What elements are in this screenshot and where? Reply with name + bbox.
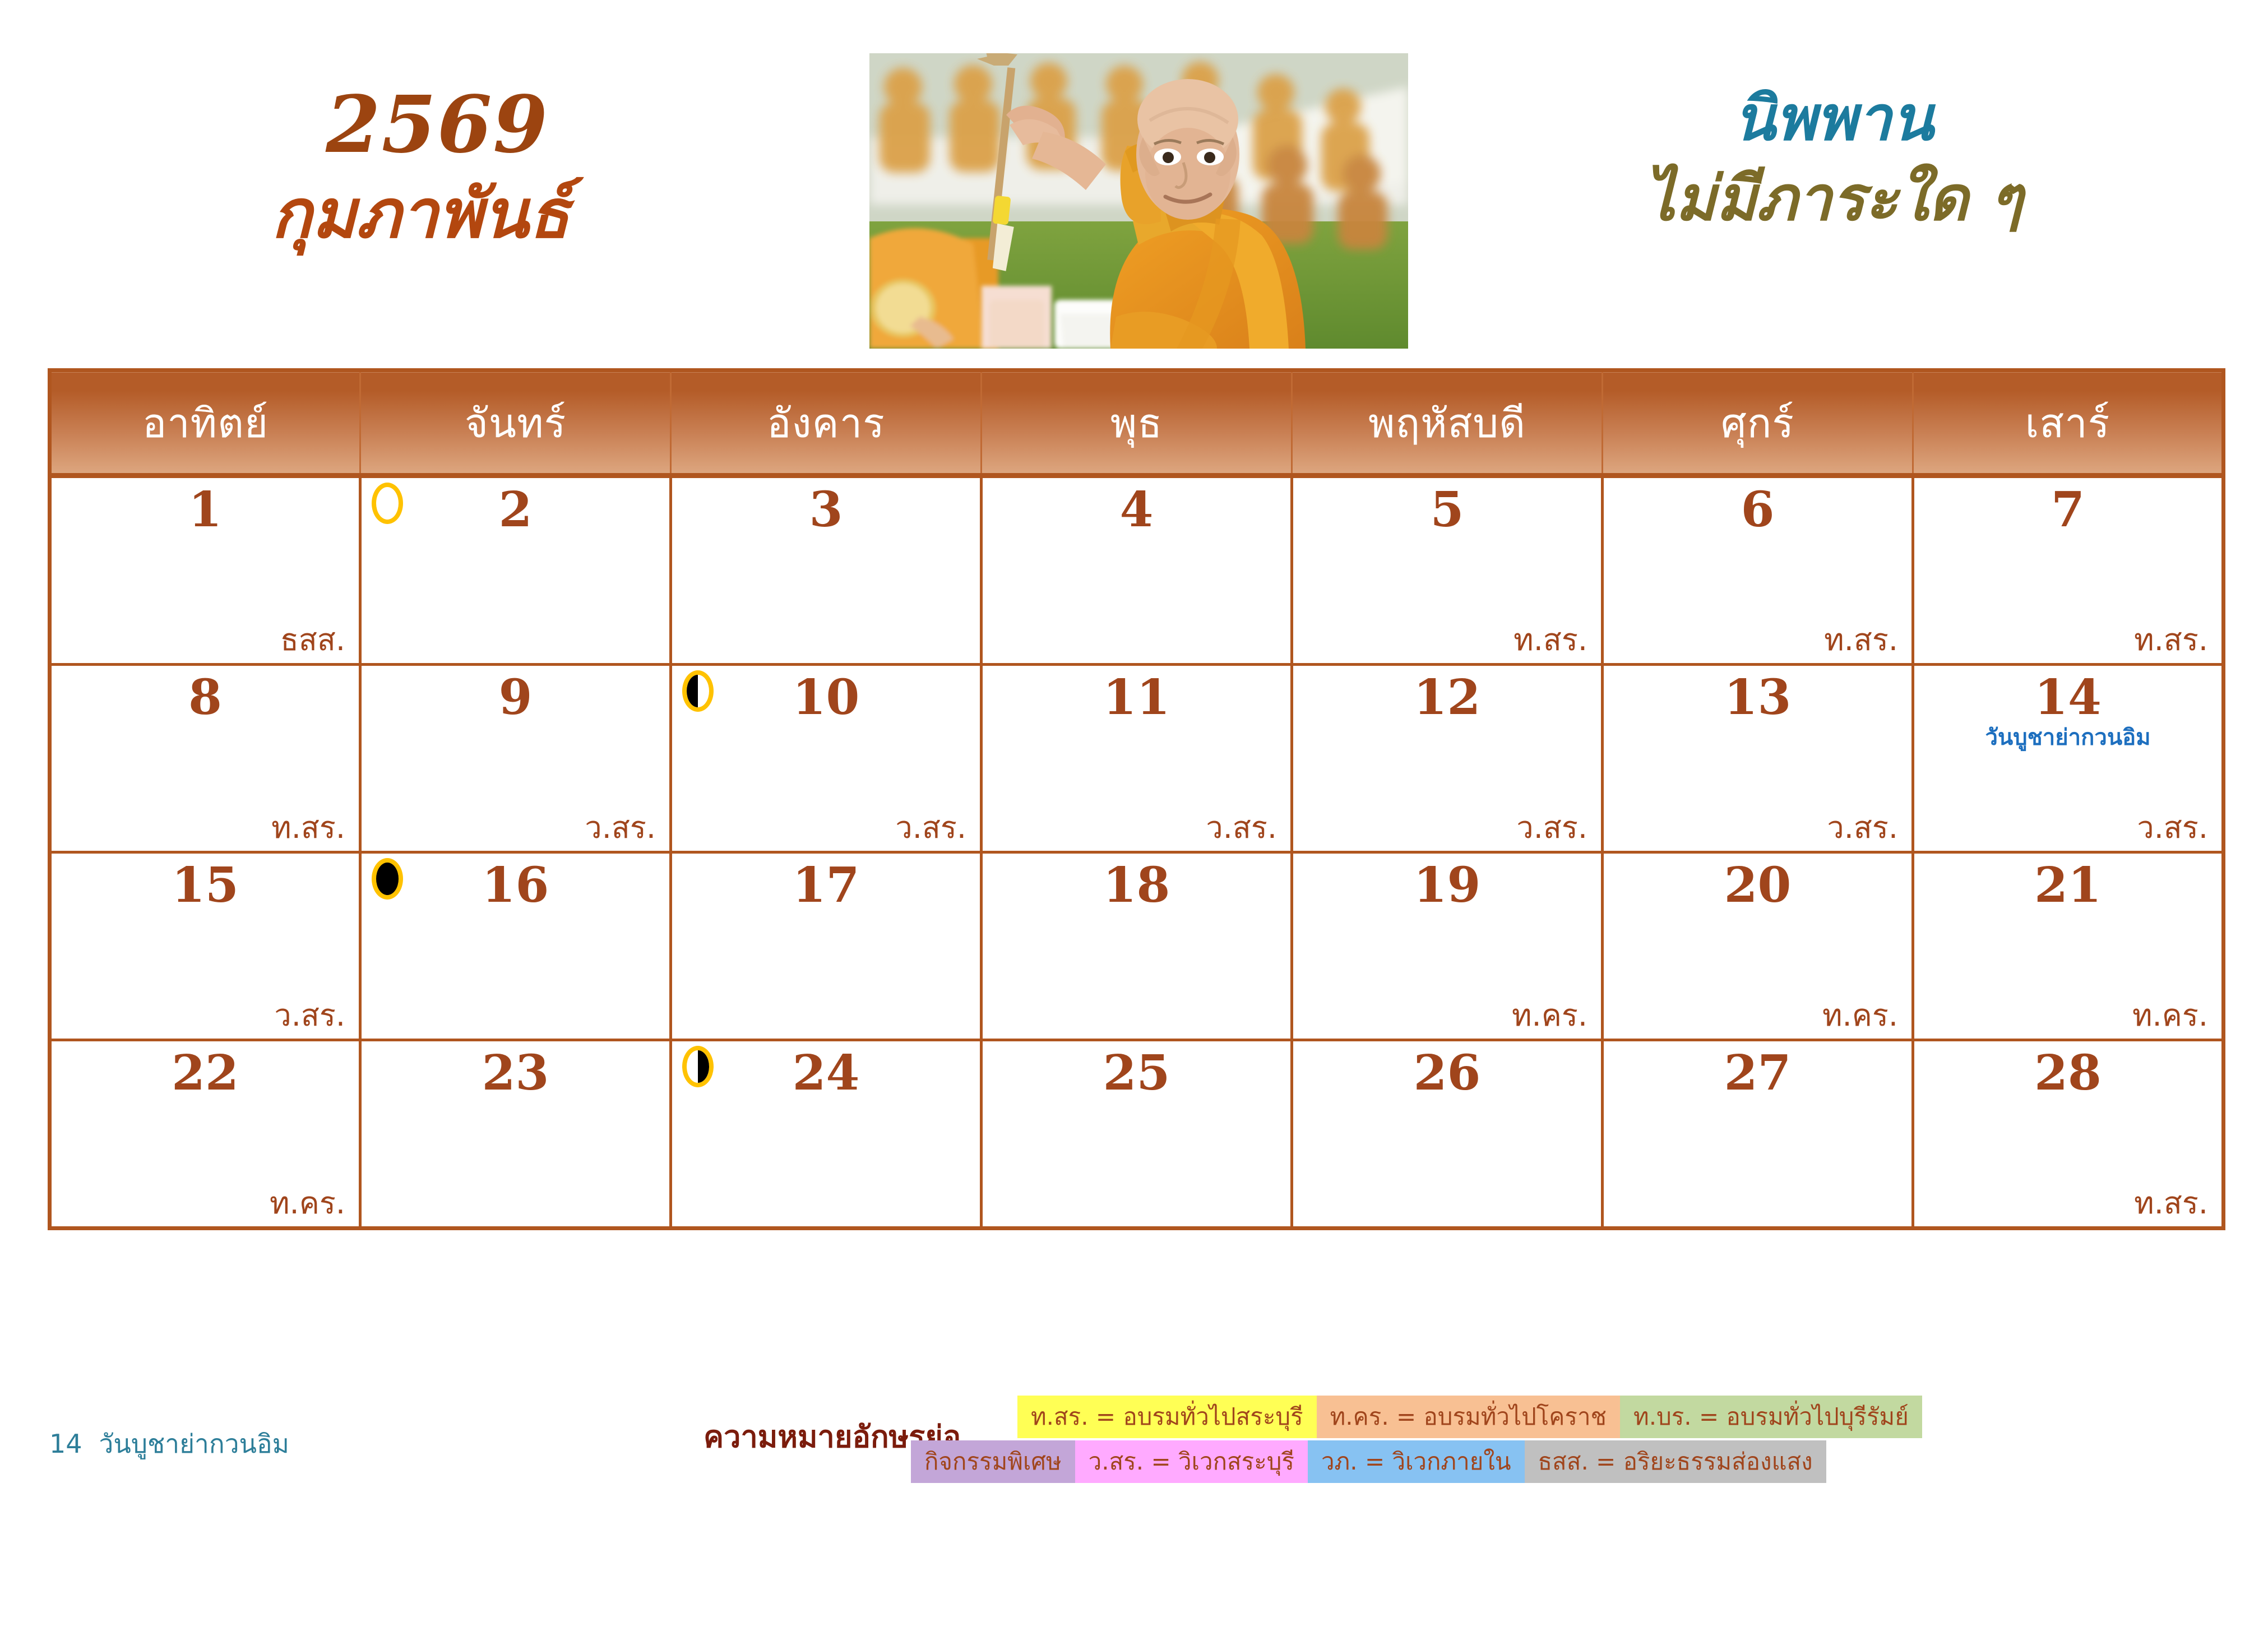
- calendar-day-cell[interactable]: 19ท.คร.: [1292, 852, 1603, 1040]
- day-abbreviation-tag: ว.สร.: [2137, 813, 2208, 843]
- day-abbreviation-tag: ท.คร.: [2132, 1000, 2208, 1031]
- calendar-day-cell[interactable]: 27: [1603, 1040, 1913, 1229]
- day-number: 10: [672, 674, 980, 722]
- calendar-day-cell[interactable]: 7ท.สร.: [1913, 476, 2224, 665]
- calendar-day-cell[interactable]: 14วันบูชาย่ากวนอิมว.สร.: [1913, 665, 2224, 852]
- calendar-day-cell[interactable]: 26: [1292, 1040, 1603, 1229]
- weekday-header-thursday: พฤหัสบดี: [1292, 370, 1603, 476]
- day-number: 21: [1914, 861, 2221, 910]
- day-number: 3: [672, 486, 980, 534]
- legend-chip: ว.สร. = วิเวกสระบุรี: [1075, 1440, 1308, 1483]
- calendar-day-cell[interactable]: 22ท.คร.: [50, 1040, 360, 1229]
- year-title: 2569: [129, 84, 746, 166]
- calendar-day-cell[interactable]: 1ธสส.: [50, 476, 360, 665]
- day-number: 19: [1293, 861, 1601, 910]
- calendar-table: อาทิตย์ จันทร์ อังคาร พุธ พฤหัสบดี ศุกร์…: [48, 368, 2225, 1230]
- day-abbreviation-tag: ท.สร.: [1513, 625, 1587, 655]
- day-number: 27: [1604, 1049, 1911, 1097]
- monk-photo: [869, 53, 1408, 349]
- weekday-header-tuesday: อังคาร: [671, 370, 982, 476]
- legend-chip: ท.สร. = อบรมทั่วไปสระบุรี: [1017, 1396, 1317, 1438]
- day-abbreviation-tag: ว.สร.: [895, 813, 966, 843]
- day-abbreviation-tag: ท.คร.: [1822, 1000, 1898, 1031]
- calendar-week-row: 15ว.สร.16171819ท.คร.20ท.คร.21ท.คร.: [50, 852, 2224, 1040]
- day-number: 23: [362, 1049, 669, 1097]
- calendar-day-cell[interactable]: 5ท.สร.: [1292, 476, 1603, 665]
- calendar-day-cell[interactable]: 8ท.สร.: [50, 665, 360, 852]
- day-number: 12: [1293, 674, 1601, 722]
- day-number: 7: [1914, 486, 2221, 534]
- calendar-day-cell[interactable]: 10ว.สร.: [671, 665, 982, 852]
- legend-chip: ธสส. = อริยะธรรมส่องแสง: [1525, 1440, 1826, 1483]
- day-abbreviation-tag: ท.สร.: [1824, 625, 1898, 655]
- day-number: 4: [983, 486, 1290, 534]
- calendar-day-cell[interactable]: 6ท.สร.: [1603, 476, 1913, 665]
- calendar-day-cell[interactable]: 23: [360, 1040, 671, 1229]
- day-number: 1: [52, 486, 359, 534]
- legend-chip: ท.บร. = อบรมทั่วไปบุรีรัมย์: [1620, 1396, 1922, 1438]
- footer-note-text: วันบูชาย่ากวนอิม: [99, 1429, 289, 1459]
- weekday-header-wednesday: พุธ: [982, 370, 1292, 476]
- calendar-header-row: อาทิตย์ จันทร์ อังคาร พุธ พฤหัสบดี ศุกร์…: [50, 370, 2224, 476]
- day-number: 2: [362, 486, 669, 534]
- day-number: 15: [52, 861, 359, 910]
- day-number: 11: [983, 674, 1290, 722]
- day-number: 6: [1604, 486, 1911, 534]
- day-abbreviation-tag: ว.สร.: [1206, 813, 1277, 843]
- legend-chip: ท.คร. = อบรมทั่วไปโคราช: [1317, 1396, 1620, 1438]
- day-abbreviation-tag: ท.สร.: [2134, 1188, 2208, 1218]
- day-event-note: วันบูชาย่ากวนอิม: [1914, 726, 2221, 749]
- legend-rows: ท.สร. = อบรมทั่วไปสระบุรีท.คร. = อบรมทั่…: [1017, 1396, 1922, 1483]
- calendar-day-cell[interactable]: 11ว.สร.: [982, 665, 1292, 852]
- day-abbreviation-tag: ท.คร.: [1512, 1000, 1587, 1031]
- calendar-grid: อาทิตย์ จันทร์ อังคาร พุธ พฤหัสบดี ศุกร์…: [48, 368, 2223, 1230]
- day-abbreviation-tag: ธสส.: [280, 625, 345, 655]
- day-abbreviation-tag: ว.สร.: [1827, 813, 1898, 843]
- day-number: 9: [362, 674, 669, 722]
- motto-line-2: ไม่มีภาระใด ๆ: [1483, 164, 2184, 232]
- calendar-day-cell[interactable]: 2: [360, 476, 671, 665]
- weekday-header-sunday: อาทิตย์: [50, 370, 360, 476]
- weekday-header-friday: ศุกร์: [1603, 370, 1913, 476]
- day-abbreviation-tag: ว.สร.: [585, 813, 656, 843]
- calendar-body: 1ธสส.2345ท.สร.6ท.สร.7ท.สร.8ท.สร.9ว.สร.10…: [50, 476, 2224, 1229]
- day-abbreviation-tag: ท.คร.: [270, 1188, 345, 1218]
- calendar-day-cell[interactable]: 12ว.สร.: [1292, 665, 1603, 852]
- legend-row: กิจกรรมพิเศษว.สร. = วิเวกสระบุรีวภ. = วิ…: [911, 1440, 1922, 1483]
- day-number: 24: [672, 1049, 980, 1097]
- day-number: 20: [1604, 861, 1911, 910]
- page-header: 2569 กุมภาพันธ์: [0, 0, 2268, 367]
- day-abbreviation-tag: ท.สร.: [2134, 625, 2208, 655]
- day-number: 16: [362, 861, 669, 910]
- calendar-day-cell[interactable]: 16: [360, 852, 671, 1040]
- calendar-day-cell[interactable]: 9ว.สร.: [360, 665, 671, 852]
- day-abbreviation-tag: ว.สร.: [274, 1000, 345, 1031]
- calendar-day-cell[interactable]: 3: [671, 476, 982, 665]
- day-number: 18: [983, 861, 1290, 910]
- day-number: 8: [52, 674, 359, 722]
- calendar-day-cell[interactable]: 13ว.สร.: [1603, 665, 1913, 852]
- motto-line-1: นิพพาน: [1483, 84, 2184, 152]
- day-abbreviation-tag: ท.สร.: [271, 813, 345, 843]
- legend-row: ท.สร. = อบรมทั่วไปสระบุรีท.คร. = อบรมทั่…: [1017, 1396, 1922, 1438]
- calendar-day-cell[interactable]: 28ท.สร.: [1913, 1040, 2224, 1229]
- day-number: 5: [1293, 486, 1601, 534]
- day-number: 14: [1914, 674, 2221, 722]
- calendar-day-cell[interactable]: 20ท.คร.: [1603, 852, 1913, 1040]
- legend-chip: กิจกรรมพิเศษ: [911, 1440, 1075, 1483]
- calendar-title-left: 2569 กุมภาพันธ์: [129, 84, 746, 249]
- day-number: 28: [1914, 1049, 2221, 1097]
- month-title: กุมภาพันธ์: [95, 179, 746, 249]
- calendar-week-row: 1ธสส.2345ท.สร.6ท.สร.7ท.สร.: [50, 476, 2224, 665]
- day-abbreviation-tag: ว.สร.: [1516, 813, 1587, 843]
- weekday-header-monday: จันทร์: [360, 370, 671, 476]
- legend-chip: วภ. = วิเวกภายใน: [1308, 1440, 1525, 1483]
- monk-photo-illustration: [869, 53, 1408, 349]
- calendar-day-cell[interactable]: 17: [671, 852, 982, 1040]
- weekday-header-saturday: เสาร์: [1913, 370, 2224, 476]
- footer-note-number: 14: [49, 1429, 82, 1459]
- day-number: 26: [1293, 1049, 1601, 1097]
- day-number: 22: [52, 1049, 359, 1097]
- day-number: 17: [672, 861, 980, 910]
- calendar-week-row: 8ท.สร.9ว.สร.10ว.สร.11ว.สร.12ว.สร.13ว.สร.…: [50, 665, 2224, 852]
- calendar-title-right: นิพพาน ไม่มีภาระใด ๆ: [1483, 84, 2184, 232]
- day-number: 25: [983, 1049, 1290, 1097]
- calendar-week-row: 22ท.คร.232425262728ท.สร.: [50, 1040, 2224, 1229]
- calendar-day-cell[interactable]: 18: [982, 852, 1292, 1040]
- footer-note: 14วันบูชาย่ากวนอิม: [49, 1424, 289, 1464]
- day-number: 13: [1604, 674, 1911, 722]
- calendar-day-cell[interactable]: 25: [982, 1040, 1292, 1229]
- calendar-day-cell[interactable]: 24: [671, 1040, 982, 1229]
- calendar-day-cell[interactable]: 15ว.สร.: [50, 852, 360, 1040]
- calendar-day-cell[interactable]: 4: [982, 476, 1292, 665]
- calendar-day-cell[interactable]: 21ท.คร.: [1913, 852, 2224, 1040]
